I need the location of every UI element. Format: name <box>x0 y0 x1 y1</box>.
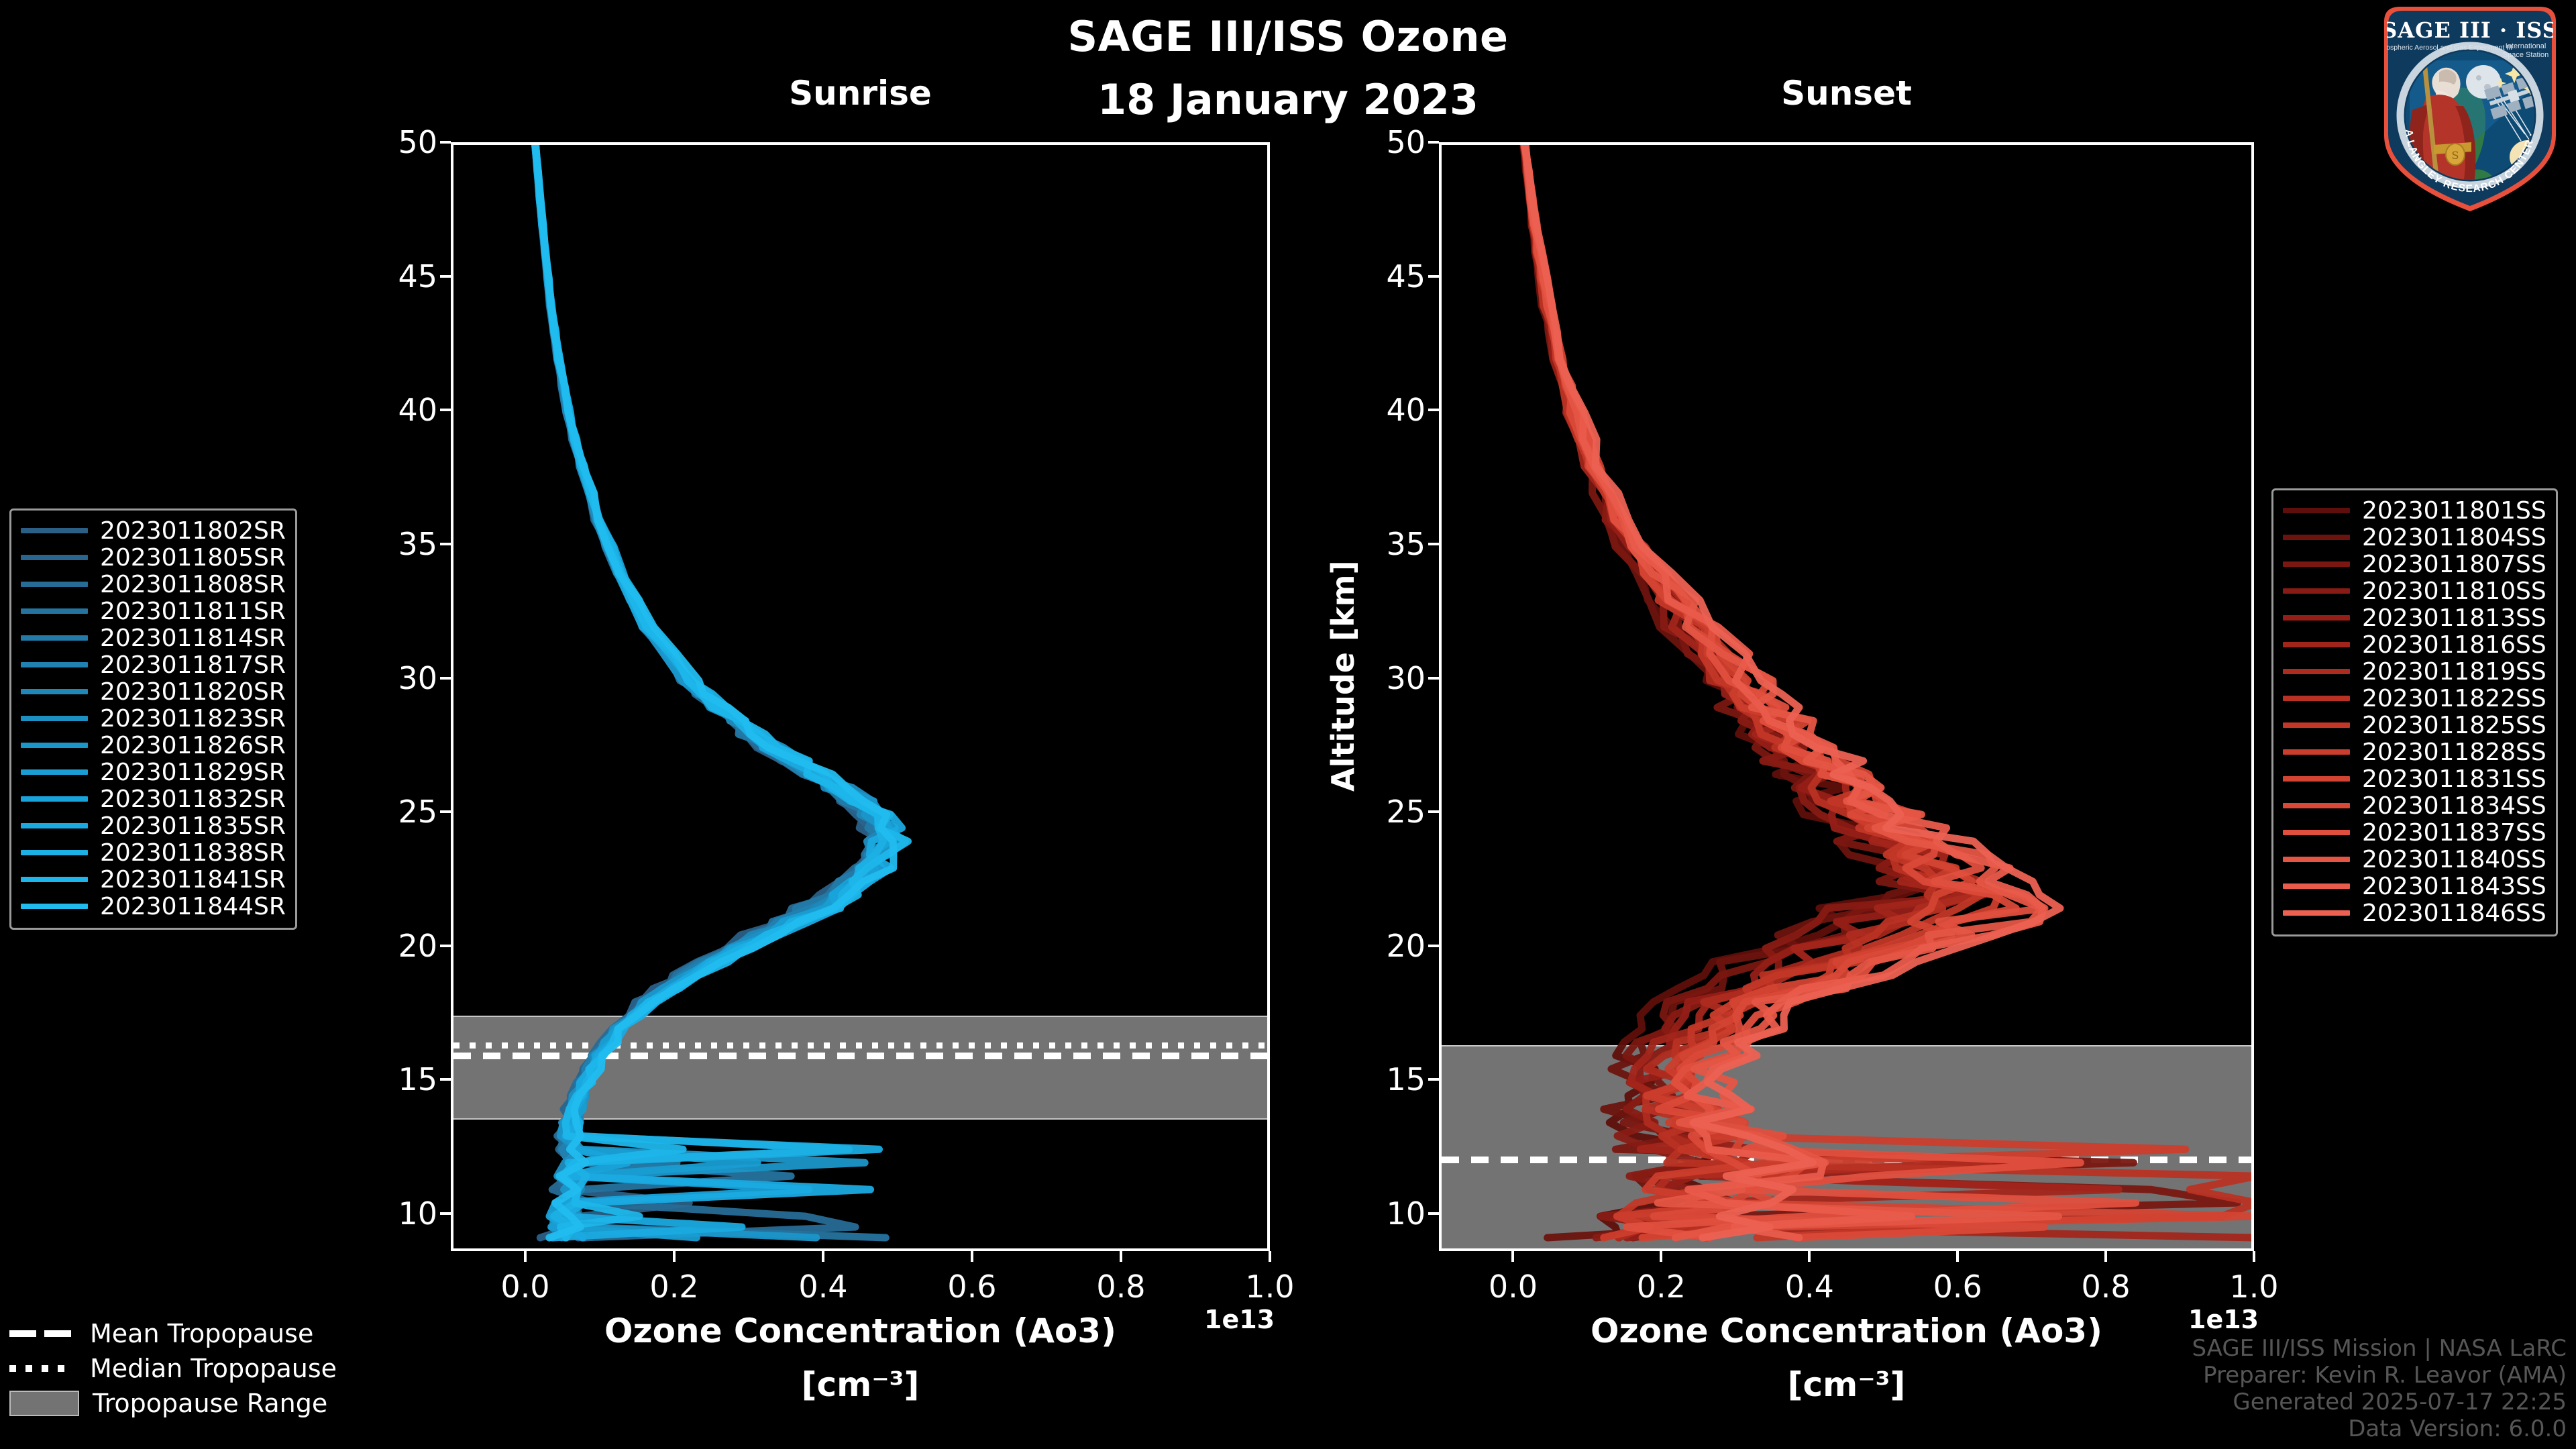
x-tick-mark <box>1269 1251 1271 1262</box>
legend-color-swatch <box>2283 857 2350 862</box>
svg-text:S: S <box>2452 149 2459 162</box>
legend-color-swatch <box>2283 910 2350 916</box>
x-tick-label: 0.4 <box>798 1269 847 1305</box>
ozone-profile-line <box>1525 145 2043 1238</box>
legend-color-swatch <box>21 582 88 587</box>
legend-color-swatch <box>21 769 88 775</box>
legend-color-swatch <box>21 904 88 909</box>
legend-item-label: 2023011831SS <box>2362 765 2546 793</box>
legend-item[interactable]: 2023011822SS <box>2283 685 2546 712</box>
legend-item[interactable]: 2023011844SR <box>21 893 286 920</box>
legend-item-label: 2023011804SS <box>2362 524 2546 551</box>
range-band-icon <box>9 1391 79 1416</box>
x-tick-label: 0.8 <box>1096 1269 1145 1305</box>
legend-color-swatch <box>21 555 88 560</box>
legend-sunrise[interactable]: 2023011802SR2023011805SR2023011808SR2023… <box>9 508 297 930</box>
footer-credits: SAGE III/ISS Mission | NASA LaRCPreparer… <box>2192 1335 2567 1442</box>
plot-sunrise[interactable] <box>451 142 1270 1251</box>
plot-sunset[interactable] <box>1439 142 2254 1251</box>
y-tick-mark <box>440 409 451 411</box>
legend-color-swatch <box>2283 830 2350 835</box>
legend-item[interactable]: 2023011843SS <box>2283 873 2546 900</box>
legend-item[interactable]: 2023011801SS <box>2283 497 2546 524</box>
x-tick-mark <box>2104 1251 2107 1262</box>
tropopause-legend-label: Mean Tropopause <box>90 1319 313 1348</box>
x-tick-label: 0.8 <box>2082 1269 2131 1305</box>
y-tick-mark <box>440 141 451 144</box>
legend-item-label: 2023011819SS <box>2362 658 2546 686</box>
legend-item[interactable]: 2023011826SR <box>21 732 286 759</box>
x-tick-mark <box>1956 1251 1959 1262</box>
y-tick-mark <box>440 275 451 278</box>
legend-item[interactable]: 2023011828SS <box>2283 739 2546 765</box>
legend-item[interactable]: 2023011819SS <box>2283 658 2546 685</box>
legend-color-swatch <box>2283 615 2350 621</box>
legend-item[interactable]: 2023011829SR <box>21 759 286 786</box>
x-tick-label: 1.0 <box>2229 1269 2278 1305</box>
x-tick-label: 0.6 <box>1933 1269 1982 1305</box>
legend-item[interactable]: 2023011814SR <box>21 625 286 651</box>
legend-item-label: 2023011841SR <box>100 866 286 894</box>
legend-color-swatch <box>21 796 88 802</box>
x-tick-mark <box>1660 1251 1662 1262</box>
y-tick-mark <box>1428 275 1439 278</box>
svg-text:International: International <box>2506 42 2546 50</box>
y-tick-mark <box>440 677 451 680</box>
legend-item-label: 2023011810SS <box>2362 578 2546 605</box>
legend-item[interactable]: 2023011813SS <box>2283 604 2546 631</box>
x-tick-mark <box>971 1251 973 1262</box>
y-axis-label-sunset: Altitude [km] <box>1325 560 1361 792</box>
legend-item-label: 2023011814SR <box>100 625 286 652</box>
legend-color-swatch <box>21 608 88 614</box>
x-tick-label: 0.2 <box>1637 1269 1686 1305</box>
legend-color-swatch <box>21 877 88 882</box>
x-tick-label: 0.2 <box>649 1269 698 1305</box>
footer-line: SAGE III/ISS Mission | NASA LaRC <box>2192 1335 2567 1362</box>
legend-item-label: 2023011817SR <box>100 651 286 679</box>
legend-item[interactable]: 2023011820SR <box>21 678 286 705</box>
x-tick-label: 0.6 <box>947 1269 996 1305</box>
x-tick-mark <box>1808 1251 1811 1262</box>
legend-item[interactable]: 2023011805SR <box>21 544 286 571</box>
y-tick-label: 20 <box>1365 928 1426 964</box>
dotted-line-icon <box>9 1365 76 1372</box>
y-tick-label: 25 <box>377 794 437 830</box>
y-tick-label: 30 <box>1365 660 1426 696</box>
legend-color-swatch <box>2283 508 2350 513</box>
ozone-profile-curves <box>1442 145 2254 1251</box>
x-tick-label: 1.0 <box>1245 1269 1294 1305</box>
x-tick-mark <box>673 1251 676 1262</box>
legend-color-swatch <box>21 743 88 748</box>
footer-line: Data Version: 6.0.0 <box>2192 1415 2567 1442</box>
legend-item-label: 2023011808SR <box>100 571 286 598</box>
x-tick-label: 0.4 <box>1785 1269 1834 1305</box>
legend-item-label: 2023011835SR <box>100 812 286 840</box>
x-tick-label: 0.0 <box>1489 1269 1538 1305</box>
y-tick-mark <box>1428 1212 1439 1215</box>
y-tick-label: 35 <box>377 526 437 562</box>
legend-color-swatch <box>2283 535 2350 540</box>
legend-item-label: 2023011834SS <box>2362 792 2546 820</box>
legend-item[interactable]: 2023011802SR <box>21 517 286 544</box>
legend-color-swatch <box>2283 561 2350 567</box>
legend-color-swatch <box>2283 696 2350 701</box>
y-tick-mark <box>1428 945 1439 947</box>
ozone-profile-line <box>1525 145 2045 1238</box>
tropopause-legend-label: Median Tropopause <box>90 1354 337 1383</box>
ozone-profile-curves <box>453 145 1270 1251</box>
legend-color-swatch <box>21 528 88 533</box>
legend-color-swatch <box>2283 803 2350 808</box>
ozone-profile-line <box>1525 145 2254 1238</box>
legend-item-label: 2023011822SS <box>2362 685 2546 712</box>
y-tick-label: 40 <box>1365 392 1426 428</box>
legend-color-swatch <box>2283 642 2350 647</box>
legend-item-label: 2023011844SR <box>100 893 286 920</box>
y-tick-label: 10 <box>1365 1195 1426 1232</box>
legend-color-swatch <box>21 689 88 694</box>
legend-color-swatch <box>2283 749 2350 755</box>
legend-item-label: 2023011816SS <box>2362 631 2546 659</box>
footer-line: Preparer: Kevin R. Leavor (AMA) <box>2192 1362 2567 1389</box>
legend-color-swatch <box>2283 669 2350 674</box>
legend-item[interactable]: 2023011817SR <box>21 651 286 678</box>
legend-item-label: 2023011828SS <box>2362 739 2546 766</box>
x-axis-units-sunrise: [cm⁻³] <box>451 1365 1270 1404</box>
legend-item-label: 2023011829SR <box>100 759 286 786</box>
legend-item[interactable]: 2023011840SS <box>2283 846 2546 873</box>
y-tick-mark <box>1428 543 1439 545</box>
legend-item-label: 2023011811SR <box>100 598 286 625</box>
legend-item[interactable]: 2023011810SS <box>2283 578 2546 604</box>
ozone-profile-line <box>1525 145 2060 1238</box>
legend-item-label: 2023011843SS <box>2362 873 2546 900</box>
y-tick-label: 25 <box>1365 794 1426 830</box>
legend-color-swatch <box>2283 722 2350 728</box>
plot-area-sunset <box>1442 145 2251 1248</box>
x-tick-mark <box>822 1251 824 1262</box>
legend-item-label: 2023011813SS <box>2362 604 2546 632</box>
legend-item[interactable]: 2023011837SS <box>2283 819 2546 846</box>
panel-title-sunset: Sunset <box>1439 74 2254 113</box>
y-tick-label: 40 <box>377 392 437 428</box>
legend-item-label: 2023011846SS <box>2362 900 2546 927</box>
ozone-profile-line <box>535 145 908 1238</box>
x-axis-offset-sunrise: 1e13 <box>1204 1305 1275 1334</box>
legend-item[interactable]: 2023011832SR <box>21 786 286 812</box>
x-axis-label-sunrise: Ozone Concentration (Ao3) <box>451 1311 1270 1350</box>
legend-item[interactable]: 2023011825SS <box>2283 712 2546 739</box>
plot-area-sunrise <box>453 145 1267 1248</box>
y-tick-label: 45 <box>377 258 437 294</box>
legend-color-swatch <box>21 662 88 667</box>
legend-item-label: 2023011802SR <box>100 517 286 545</box>
tropopause-legend-item[interactable]: Mean Tropopause <box>9 1316 337 1351</box>
legend-item-label: 2023011837SS <box>2362 819 2546 847</box>
legend-item[interactable]: 2023011838SR <box>21 839 286 866</box>
x-tick-mark <box>1120 1251 1122 1262</box>
y-tick-mark <box>440 543 451 545</box>
y-tick-mark <box>1428 409 1439 411</box>
y-tick-label: 45 <box>1365 258 1426 294</box>
page-title: SAGE III/ISS Ozone <box>0 12 2576 61</box>
legend-color-swatch <box>21 823 88 828</box>
legend-item-label: 2023011805SR <box>100 544 286 572</box>
y-tick-label: 35 <box>1365 526 1426 562</box>
legend-item-label: 2023011801SS <box>2362 497 2546 525</box>
legend-item-label: 2023011838SR <box>100 839 286 867</box>
legend-tropopause[interactable]: Mean TropopauseMedian TropopauseTropopau… <box>9 1316 337 1421</box>
y-tick-label: 30 <box>377 660 437 696</box>
legend-item[interactable]: 2023011811SR <box>21 598 286 625</box>
x-axis-label-sunset: Ozone Concentration (Ao3) <box>1439 1311 2254 1350</box>
legend-item[interactable]: 2023011831SS <box>2283 765 2546 792</box>
legend-item-label: 2023011807SS <box>2362 551 2546 578</box>
y-tick-label: 50 <box>377 124 437 160</box>
legend-item[interactable]: 2023011834SS <box>2283 792 2546 819</box>
y-tick-mark <box>1428 141 1439 144</box>
legend-color-swatch <box>21 850 88 855</box>
tropopause-legend-item[interactable]: Median Tropopause <box>9 1351 337 1386</box>
legend-color-swatch <box>2283 588 2350 594</box>
x-axis-units-sunset: [cm⁻³] <box>1439 1365 2254 1404</box>
legend-item[interactable]: 2023011804SS <box>2283 524 2546 551</box>
x-tick-mark <box>524 1251 527 1262</box>
legend-item[interactable]: 2023011823SR <box>21 705 286 732</box>
panel-title-sunrise: Sunrise <box>451 74 1270 113</box>
legend-item[interactable]: 2023011808SR <box>21 571 286 598</box>
tropopause-legend-item[interactable]: Tropopause Range <box>9 1386 337 1421</box>
svg-text:SAGE III · ISS: SAGE III · ISS <box>2381 17 2559 43</box>
legend-item-label: 2023011826SR <box>100 732 286 759</box>
x-tick-label: 0.0 <box>500 1269 549 1305</box>
svg-text:Space Station: Space Station <box>2503 51 2549 59</box>
legend-color-swatch <box>2283 883 2350 889</box>
legend-sunset[interactable]: 2023011801SS2023011804SS2023011807SS2023… <box>2271 488 2558 936</box>
legend-item[interactable]: 2023011835SR <box>21 812 286 839</box>
legend-item-label: 2023011820SR <box>100 678 286 706</box>
x-tick-mark <box>2253 1251 2255 1262</box>
x-tick-mark <box>1511 1251 1514 1262</box>
legend-item-label: 2023011832SR <box>100 786 286 813</box>
y-tick-mark <box>440 810 451 813</box>
y-tick-mark <box>440 1078 451 1081</box>
y-tick-mark <box>1428 810 1439 813</box>
y-tick-mark <box>1428 677 1439 680</box>
legend-color-swatch <box>2283 776 2350 782</box>
tropopause-legend-label: Tropopause Range <box>93 1389 327 1418</box>
y-tick-mark <box>440 945 451 947</box>
dashed-line-icon <box>9 1330 76 1337</box>
legend-item[interactable]: 2023011841SR <box>21 866 286 893</box>
y-tick-mark <box>440 1212 451 1215</box>
y-tick-mark <box>1428 1078 1439 1081</box>
y-tick-label: 50 <box>1365 124 1426 160</box>
legend-item-label: 2023011823SR <box>100 705 286 733</box>
ozone-profile-line <box>1525 145 2059 1238</box>
legend-item[interactable]: 2023011846SS <box>2283 900 2546 926</box>
legend-color-swatch <box>21 716 88 721</box>
y-tick-label: 10 <box>377 1195 437 1232</box>
footer-line: Generated 2025-07-17 22:25 <box>2192 1389 2567 1415</box>
svg-text:Stratospheric Aerosol and Gas: Stratospheric Aerosol and Gas Experiment… <box>2371 44 2512 52</box>
legend-color-swatch <box>21 635 88 641</box>
x-axis-offset-sunset: 1e13 <box>2188 1305 2259 1334</box>
y-tick-label: 20 <box>377 928 437 964</box>
sage-iii-iss-logo-icon: S SAGE III · ISS Stratospheric Aerosol a… <box>2369 3 2571 215</box>
legend-item[interactable]: 2023011816SS <box>2283 631 2546 658</box>
legend-item-label: 2023011840SS <box>2362 846 2546 873</box>
y-tick-label: 15 <box>1365 1061 1426 1097</box>
legend-item[interactable]: 2023011807SS <box>2283 551 2546 578</box>
legend-item-label: 2023011825SS <box>2362 712 2546 739</box>
y-tick-label: 15 <box>377 1061 437 1097</box>
